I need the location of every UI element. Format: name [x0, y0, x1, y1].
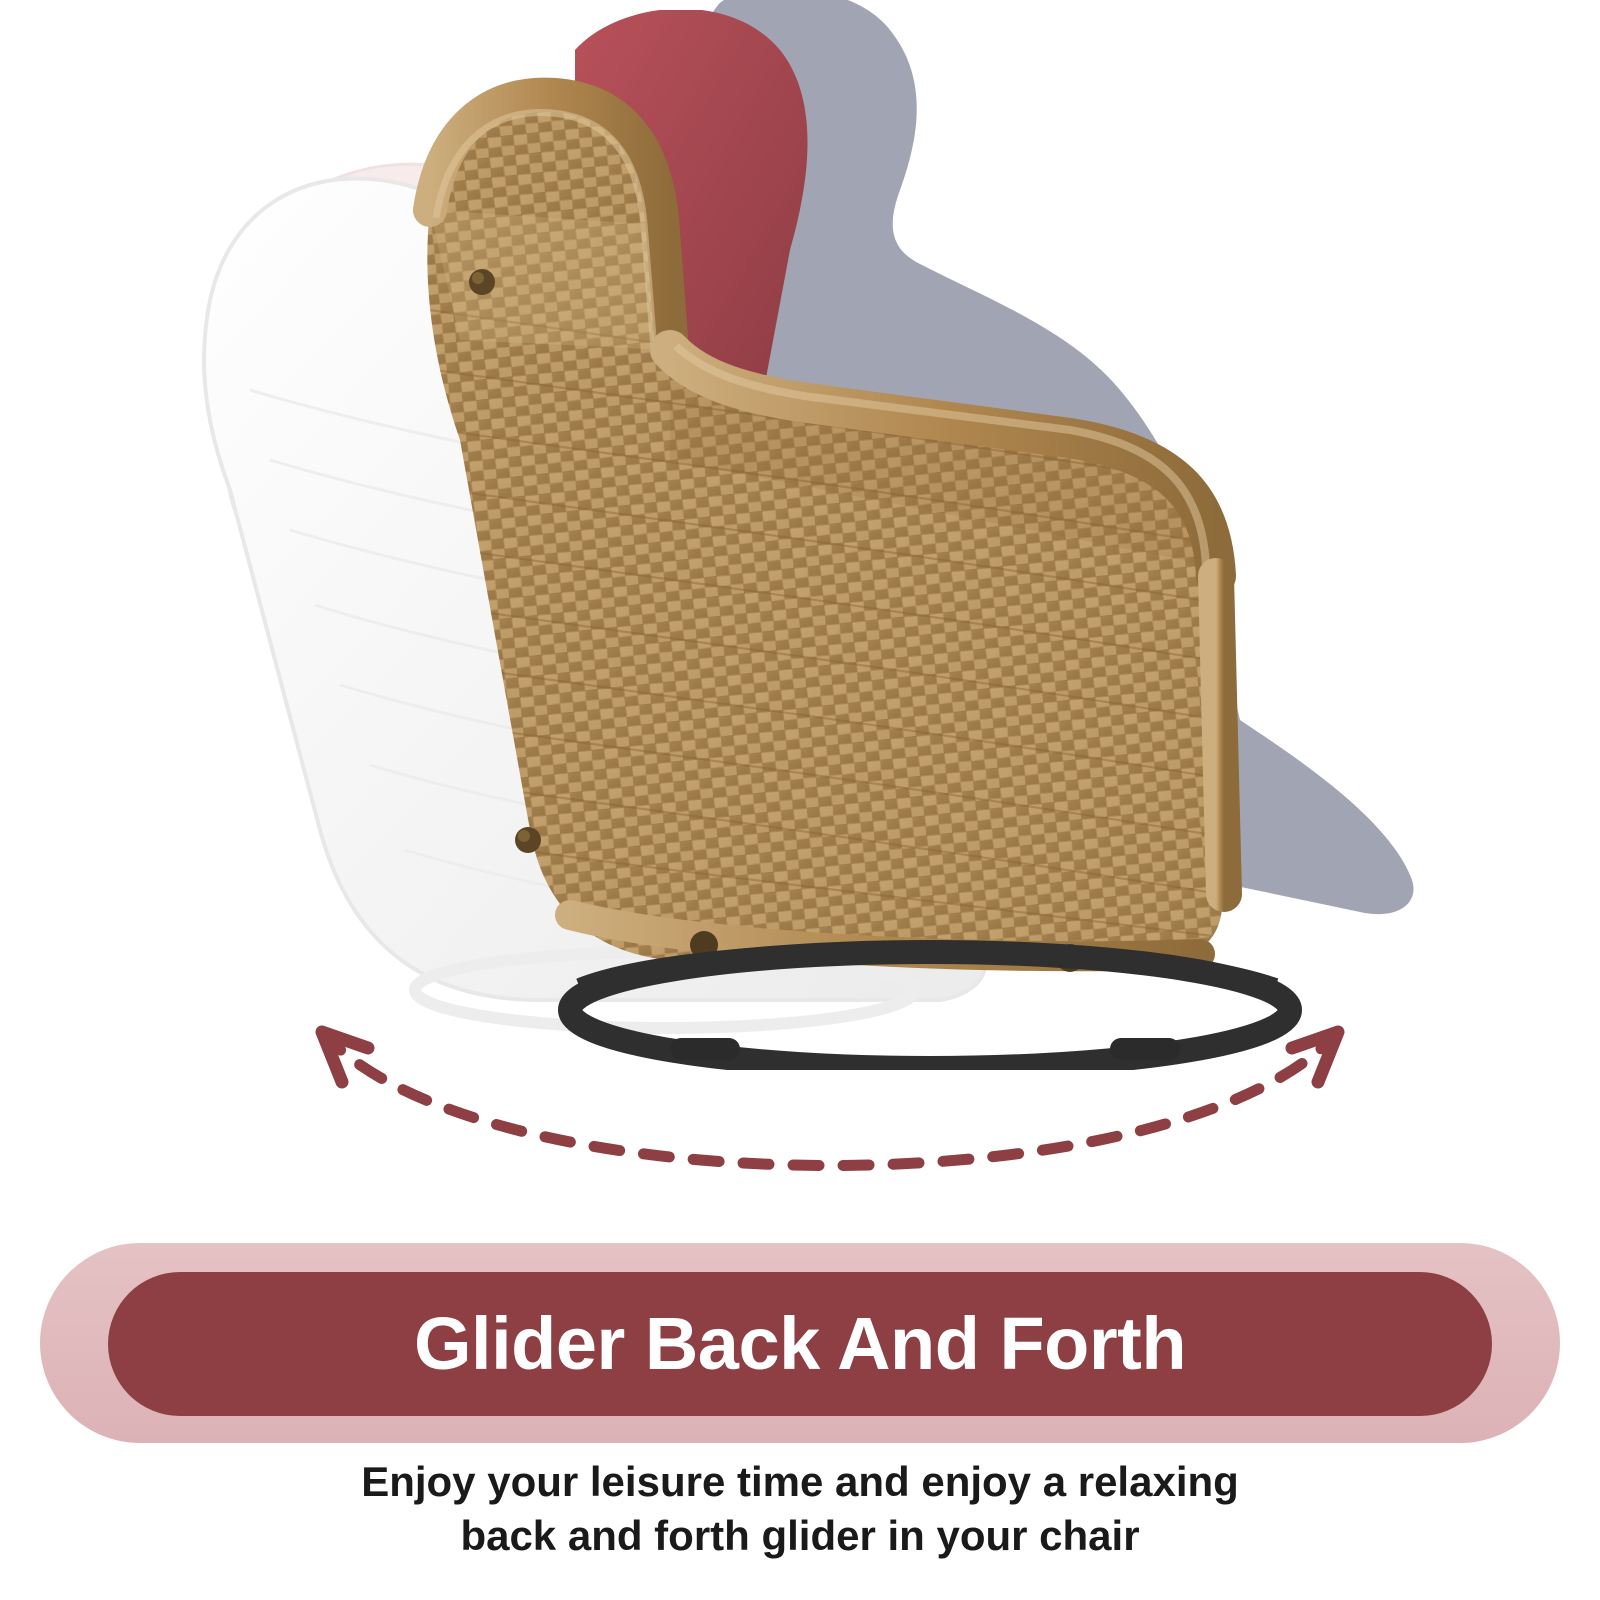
- caption-line-2: back and forth glider in your chair: [100, 1509, 1500, 1563]
- banner-pill: Glider Back And Forth: [108, 1272, 1492, 1416]
- caption-line-1: Enjoy your leisure time and enjoy a rela…: [100, 1455, 1500, 1509]
- caption-text: Enjoy your leisure time and enjoy a rela…: [100, 1455, 1500, 1563]
- banner-title: Glider Back And Forth: [414, 1307, 1186, 1381]
- wicker-glider-chair: [370, 10, 1370, 1070]
- back-and-forth-motion-arrow: [250, 980, 1410, 1210]
- product-image-scene: [0, 0, 1600, 1220]
- chair-front-rail: [1216, 576, 1224, 894]
